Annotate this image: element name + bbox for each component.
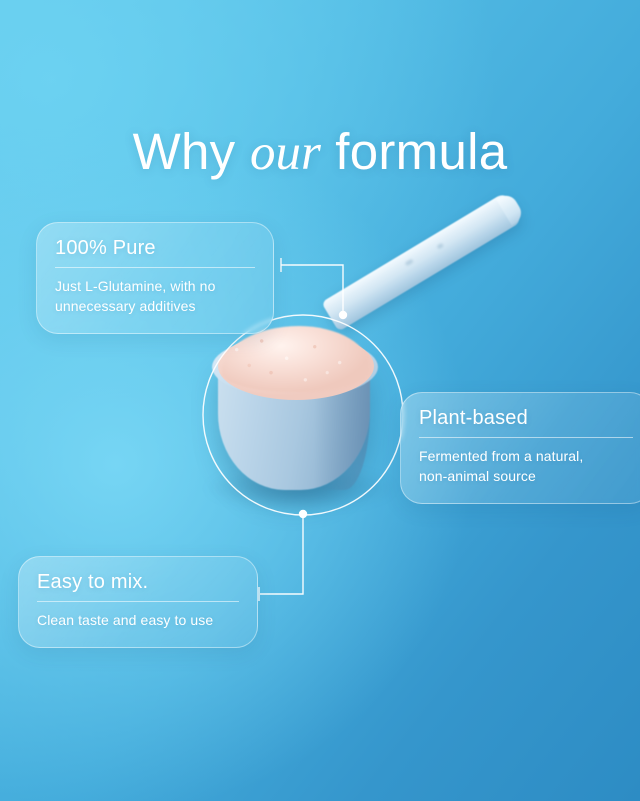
feature-body-pure: Just L-Glutamine, with no unnecessary ad…: [55, 277, 255, 317]
infographic-canvas: Why our formula 100% Pure Just L-Glutami…: [0, 0, 640, 801]
feature-card-pure[interactable]: 100% Pure Just L-Glutamine, with no unne…: [36, 222, 274, 334]
feature-title-mix: Easy to mix.: [37, 571, 239, 594]
feature-title-plant: Plant-based: [419, 407, 633, 430]
feature-body-mix: Clean taste and easy to use: [37, 611, 239, 631]
connector-dot-mix: [299, 510, 307, 518]
connector-dot-pure: [339, 311, 347, 319]
feature-body-plant: Fermented from a natural, non-animal sou…: [419, 447, 633, 487]
feature-divider: [55, 267, 255, 268]
scoop-highlight-circle: [203, 315, 403, 515]
feature-divider: [37, 601, 239, 602]
feature-card-mix[interactable]: Easy to mix. Clean taste and easy to use: [18, 556, 258, 648]
connector-line-mix: [260, 514, 303, 594]
feature-title-pure: 100% Pure: [55, 237, 255, 260]
feature-divider: [419, 437, 633, 438]
connector-line-pure: [281, 265, 343, 315]
feature-card-plant[interactable]: Plant-based Fermented from a natural, no…: [400, 392, 640, 504]
